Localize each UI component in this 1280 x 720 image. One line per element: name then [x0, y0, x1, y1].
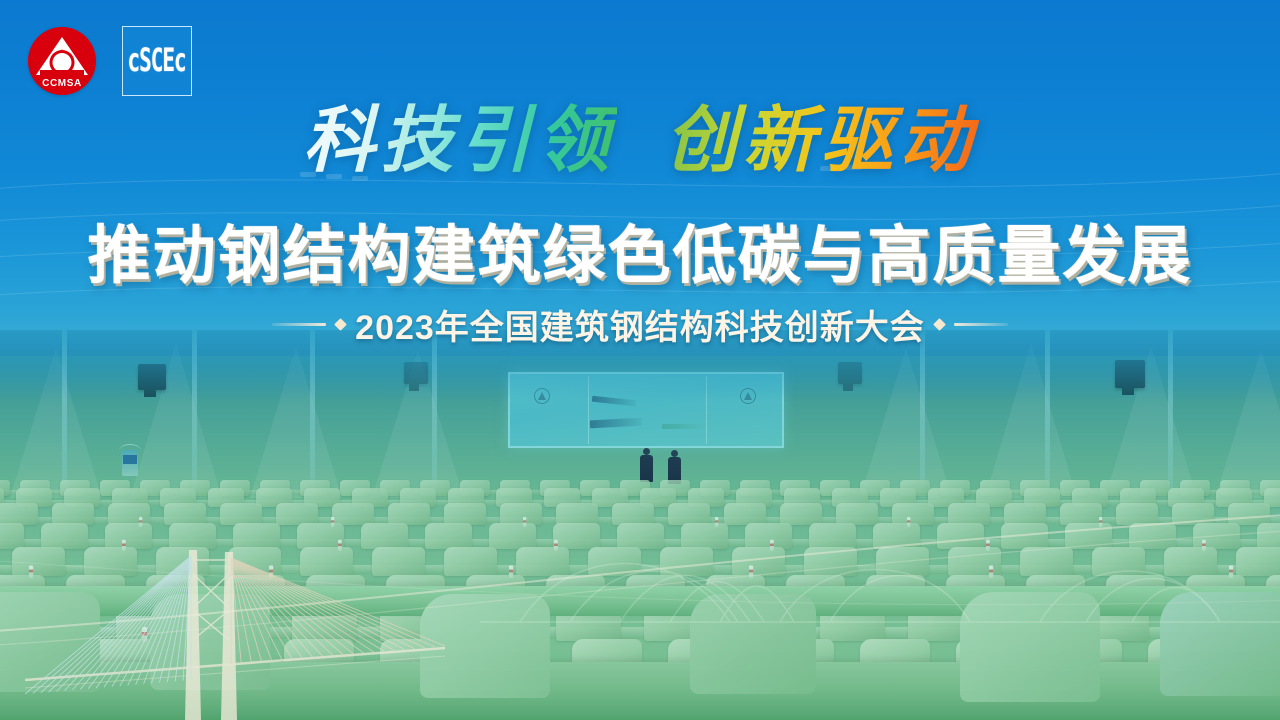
wall-panel: [1215, 350, 1280, 498]
auditorium-seat: [84, 547, 137, 576]
foreground-seat: [420, 594, 550, 698]
auditorium-seat: [332, 503, 374, 526]
auditorium-seat: [1065, 523, 1112, 549]
water-bottle: [139, 517, 142, 527]
water-bottle: [1229, 566, 1233, 578]
wall-panel: [10, 348, 102, 498]
conference-banner: CCMSA cSCEc 科技引领创新驱动 推动钢结构建筑绿色低碳与高质量发展 2…: [0, 0, 1280, 720]
screen-image: [662, 424, 706, 429]
auditorium-seat: [233, 523, 280, 549]
auditorium-seat: [1129, 523, 1176, 549]
screen-image: [590, 418, 642, 429]
auditorium-seat: [948, 503, 990, 526]
screen-image: [592, 396, 636, 407]
auditorium-seat: [612, 503, 654, 526]
wall-speaker-icon: [404, 362, 428, 384]
water-bottle: [989, 566, 993, 578]
calligraphy-headline: 科技引领创新驱动: [0, 104, 1280, 176]
auditorium-seat: [836, 503, 878, 526]
wall-panel: [860, 348, 952, 498]
auditorium-seat: [937, 523, 984, 549]
auditorium-seat: [444, 547, 497, 576]
auditorium-seat: [873, 523, 920, 549]
wall-pillar: [920, 330, 925, 498]
auditorium-seat: [300, 547, 353, 576]
subtitle-left-diamond-icon: [334, 318, 347, 331]
water-bottle: [122, 540, 126, 551]
screen-divider: [588, 376, 589, 444]
auditorium-seat: [444, 503, 486, 526]
person-figure: [640, 448, 653, 482]
auditorium-seat: [732, 547, 785, 576]
auditorium-seat: [681, 523, 728, 549]
wall-pillar: [432, 330, 437, 498]
auditorium-seat: [220, 503, 262, 526]
wall-pillar: [192, 330, 197, 498]
auditorium-seat: [489, 523, 536, 549]
auditorium-seat: [1228, 503, 1270, 526]
auditorium-seat: [660, 547, 713, 576]
auditorium-seat: [1116, 503, 1158, 526]
auditorium-seat: [745, 523, 792, 549]
main-headline: 推动钢结构建筑绿色低碳与高质量发展: [0, 205, 1280, 296]
projection-screen: [508, 372, 784, 448]
wall-speaker-icon: [1115, 360, 1145, 388]
water-bottle: [331, 517, 334, 527]
foreground-seat: [690, 594, 816, 694]
water-bottle: [1202, 540, 1206, 551]
auditorium-seat: [553, 523, 600, 549]
auditorium-seat: [1172, 503, 1214, 526]
logo-group: CCMSA cSCEc: [28, 26, 192, 96]
auditorium-seat: [588, 547, 641, 576]
ccmsa-logo[interactable]: CCMSA: [28, 27, 96, 95]
auditorium-seat: [1060, 503, 1102, 526]
water-bottle: [509, 566, 513, 578]
water-bottle: [523, 517, 526, 527]
auditorium-seat: [1164, 547, 1217, 576]
foreground-seat: [1160, 592, 1280, 696]
subtitle-right-rule: [954, 323, 1008, 326]
water-bottle: [986, 540, 990, 551]
auditorium-seat: [1236, 547, 1280, 576]
conference-hall-photo: [0, 330, 1280, 720]
auditorium-seat: [1004, 503, 1046, 526]
wall-speaker-icon: [838, 362, 862, 384]
auditorium-seat: [1020, 547, 1073, 576]
auditorium-seat: [804, 547, 857, 576]
water-bottle: [269, 566, 273, 578]
speaker-podium: [122, 450, 138, 476]
auditorium-seat: [105, 523, 152, 549]
ccmsa-logo-label: CCMSA: [28, 78, 96, 89]
auditorium-seat: [12, 547, 65, 576]
auditorium-seat: [556, 503, 598, 526]
subtitle-row: 2023年全国建筑钢结构科技创新大会: [0, 300, 1280, 349]
foreground-seat: [0, 592, 100, 692]
auditorium-seat: [724, 503, 766, 526]
water-bottle: [907, 517, 910, 527]
auditorium-seat: [617, 523, 664, 549]
auditorium-seat: [156, 547, 209, 576]
water-bottle: [715, 517, 718, 527]
auditorium-seat: [388, 503, 430, 526]
wall-panel: [250, 346, 342, 498]
auditorium-seat: [1092, 547, 1145, 576]
subtitle-right-diamond-icon: [933, 318, 946, 331]
calligraphy-segment-one: 科技引领: [301, 97, 617, 182]
water-bottle: [749, 566, 753, 578]
water-bottle: [1099, 517, 1102, 527]
screen-logo-right-icon: [740, 388, 756, 404]
cscec-logo-label: cSCEc: [128, 43, 186, 79]
ccmsa-base-bar: [40, 70, 84, 76]
auditorium-seat: [1193, 523, 1240, 549]
auditorium-seat: [41, 523, 88, 549]
water-bottle: [29, 566, 33, 578]
cscec-logo[interactable]: cSCEc: [122, 26, 192, 96]
auditorium-seat: [108, 503, 150, 526]
screen-divider: [706, 376, 707, 444]
subtitle-left-rule: [272, 323, 326, 326]
auditorium-seat: [52, 503, 94, 526]
auditorium-seat: [809, 523, 856, 549]
calligraphy-segment-two: 创新驱动: [663, 97, 979, 182]
auditorium-seat: [169, 523, 216, 549]
auditorium-seat: [876, 547, 929, 576]
auditorium-seat: [425, 523, 472, 549]
wall-speaker-icon: [138, 364, 166, 390]
wall-panel: [985, 343, 1077, 498]
wall-pillar: [1045, 330, 1050, 498]
auditorium-seat: [0, 523, 24, 549]
wall-pillar: [62, 330, 67, 498]
foreground-seat: [960, 592, 1100, 702]
auditorium-seat: [276, 503, 318, 526]
auditorium-seat: [668, 503, 710, 526]
auditorium-seat: [164, 503, 206, 526]
auditorium-seat: [0, 503, 38, 526]
auditorium-seat: [1257, 523, 1280, 549]
auditorium-seat: [1001, 523, 1048, 549]
water-bottle: [142, 627, 147, 642]
screen-logo-left-icon: [534, 388, 550, 404]
water-bottle: [554, 540, 558, 551]
wall-pillar: [310, 330, 315, 498]
wall-pillar: [1168, 330, 1173, 498]
auditorium-seat: [361, 523, 408, 549]
foreground-seat: [150, 594, 270, 690]
auditorium-seat: [516, 547, 569, 576]
water-bottle: [770, 540, 774, 551]
auditorium-seat: [780, 503, 822, 526]
subtitle-text: 2023年全国建筑钢结构科技创新大会: [355, 300, 925, 349]
water-bottle: [338, 540, 342, 551]
auditorium-seat: [372, 547, 425, 576]
auditorium-seat: [892, 503, 934, 526]
auditorium-seat: [500, 503, 542, 526]
